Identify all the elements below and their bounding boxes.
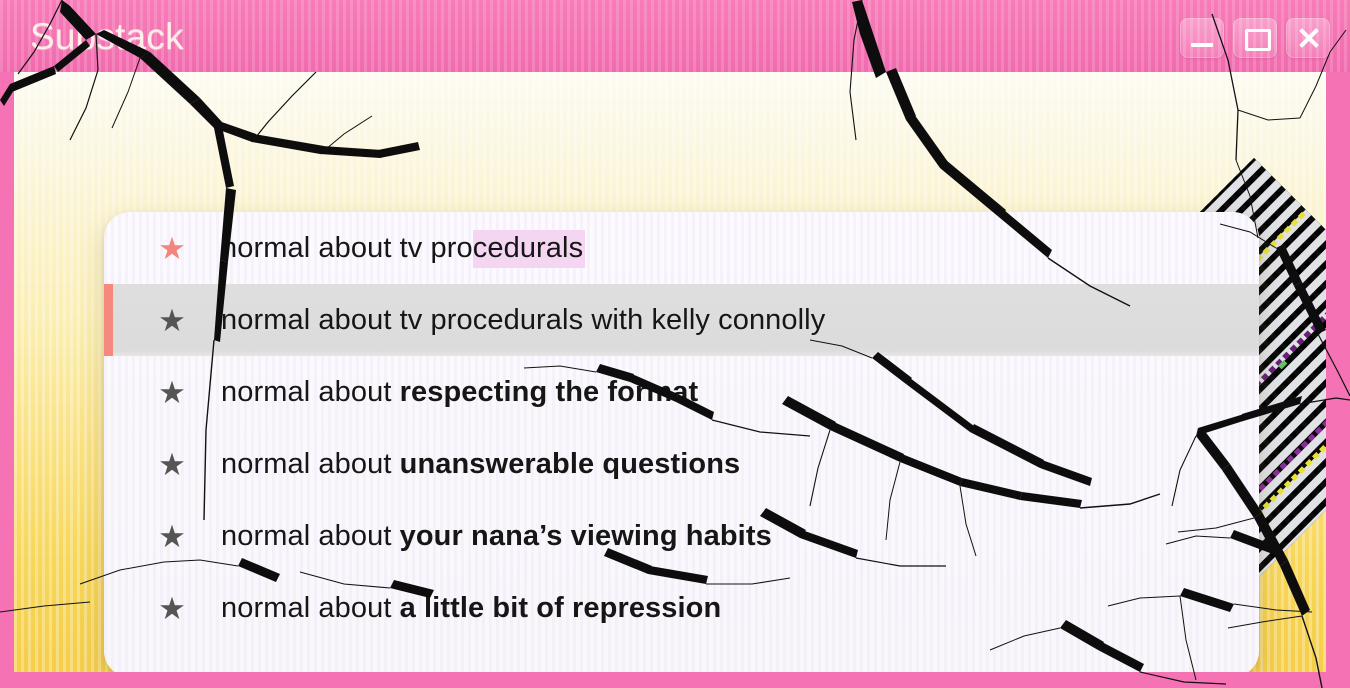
- list-item-label: normal about tv procedurals with kelly c…: [221, 304, 825, 337]
- app-title: Substack: [30, 16, 184, 58]
- list-item-label: normal about your nana’s viewing habits: [221, 520, 772, 553]
- minimize-icon: [1191, 43, 1213, 47]
- star-icon: ★: [152, 521, 192, 552]
- star-icon: ★: [152, 377, 192, 408]
- search-match-highlight: cedurals: [473, 230, 585, 268]
- minimize-button[interactable]: [1180, 18, 1224, 58]
- star-icon: ★: [152, 593, 192, 624]
- list-item[interactable]: ★ normal about tv procedurals with kelly…: [104, 284, 1259, 356]
- page-content: ★ normal about tv procedurals ★ normal a…: [14, 72, 1326, 672]
- list-item-label: normal about unanswerable questions: [221, 448, 740, 481]
- close-button[interactable]: [1286, 18, 1330, 58]
- star-icon: ★: [152, 449, 192, 480]
- list-item-label: normal about tv procedurals: [221, 232, 585, 265]
- window-controls: [1180, 18, 1330, 58]
- list-item[interactable]: ★ normal about unanswerable questions: [104, 428, 1259, 500]
- list-item-label: normal about a little bit of repression: [221, 592, 721, 625]
- list-item[interactable]: ★ normal about respecting the format: [104, 356, 1259, 428]
- app-window: Substack ★: [0, 0, 1350, 688]
- star-icon: ★: [152, 305, 192, 336]
- window-titlebar: Substack: [0, 0, 1350, 72]
- list-item[interactable]: ★ normal about a little bit of repressio…: [104, 572, 1259, 644]
- list-item-label: normal about respecting the format: [221, 376, 698, 409]
- list-item[interactable]: ★ normal about tv procedurals: [104, 212, 1259, 284]
- maximize-button[interactable]: [1233, 18, 1277, 58]
- star-icon: ★: [152, 233, 192, 264]
- list-item[interactable]: ★ normal about your nana’s viewing habit…: [104, 500, 1259, 572]
- publication-list-card: ★ normal about tv procedurals ★ normal a…: [104, 212, 1259, 672]
- maximize-icon: [1245, 29, 1271, 51]
